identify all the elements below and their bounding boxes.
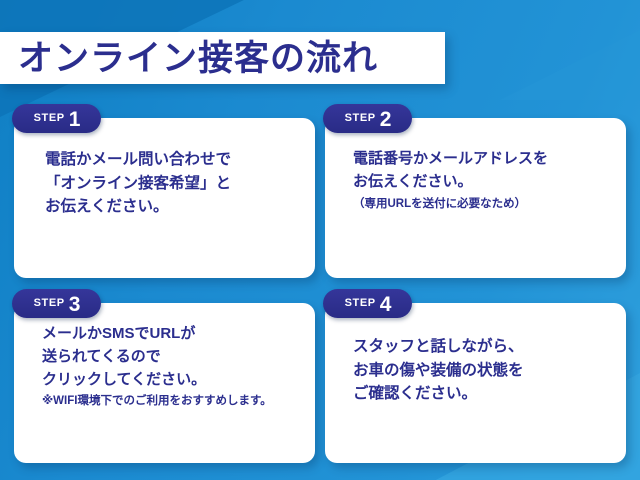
- step-text-line: お車の傷や装備の状態を: [353, 359, 626, 383]
- step-badge-number: 4: [380, 294, 392, 315]
- step-text-line: メールかSMSでURLが: [42, 323, 315, 346]
- step-badge-word: STEP: [34, 298, 65, 310]
- step-text-line: お伝えください。: [353, 171, 626, 194]
- step-text-line: 「オンライン接客希望」と: [45, 172, 315, 196]
- step-note: ※WIFI環境下でのご利用をおすすめします。: [42, 393, 315, 410]
- step-badge-word: STEP: [34, 113, 65, 125]
- step-badge-number: 3: [69, 294, 81, 315]
- step-badge-word: STEP: [345, 298, 376, 310]
- step-card-body-4: スタッフと話しながら、 お車の傷や装備の状態を ご確認ください。: [325, 303, 626, 406]
- step-badge-1: STEP 1: [12, 104, 101, 133]
- step-badge-2: STEP 2: [323, 104, 412, 133]
- step-text-line: ご確認ください。: [353, 382, 626, 406]
- step-card-2: STEP 2 電話番号かメールアドレスを お伝えください。 （専用URLを送付に…: [325, 118, 626, 278]
- step-card-body-3: メールかSMSでURLが 送られてくるので クリックしてください。 ※WIFI環…: [14, 303, 315, 411]
- step-card-1: STEP 1 電話かメール問い合わせで 「オンライン接客希望」と お伝えください…: [14, 118, 315, 278]
- step-badge-word: STEP: [345, 113, 376, 125]
- step-text-line: お伝えください。: [45, 195, 315, 219]
- step-text-line: 送られてくるので: [42, 346, 315, 369]
- step-badge-3: STEP 3: [12, 289, 101, 318]
- step-text-line: 電話かメール問い合わせで: [45, 148, 315, 172]
- poster-canvas: オンライン接客の流れ STEP 1 電話かメール問い合わせで 「オンライン接客希…: [0, 0, 640, 480]
- title-banner: オンライン接客の流れ: [0, 32, 445, 84]
- step-badge-number: 2: [380, 109, 392, 130]
- step-text-line: クリックしてください。: [42, 369, 315, 392]
- step-text-line: スタッフと話しながら、: [353, 335, 626, 359]
- step-text-line: 電話番号かメールアドレスを: [353, 148, 626, 171]
- step-badge-4: STEP 4: [323, 289, 412, 318]
- step-card-body-1: 電話かメール問い合わせで 「オンライン接客希望」と お伝えください。: [14, 118, 315, 219]
- step-grid: STEP 1 電話かメール問い合わせで 「オンライン接客希望」と お伝えください…: [0, 104, 640, 464]
- step-badge-number: 1: [69, 109, 81, 130]
- page-title: オンライン接客の流れ: [18, 41, 378, 76]
- step-card-4: STEP 4 スタッフと話しながら、 お車の傷や装備の状態を ご確認ください。: [325, 303, 626, 463]
- step-card-3: STEP 3 メールかSMSでURLが 送られてくるので クリックしてください。…: [14, 303, 315, 463]
- step-note: （専用URLを送付に必要なため）: [353, 196, 626, 213]
